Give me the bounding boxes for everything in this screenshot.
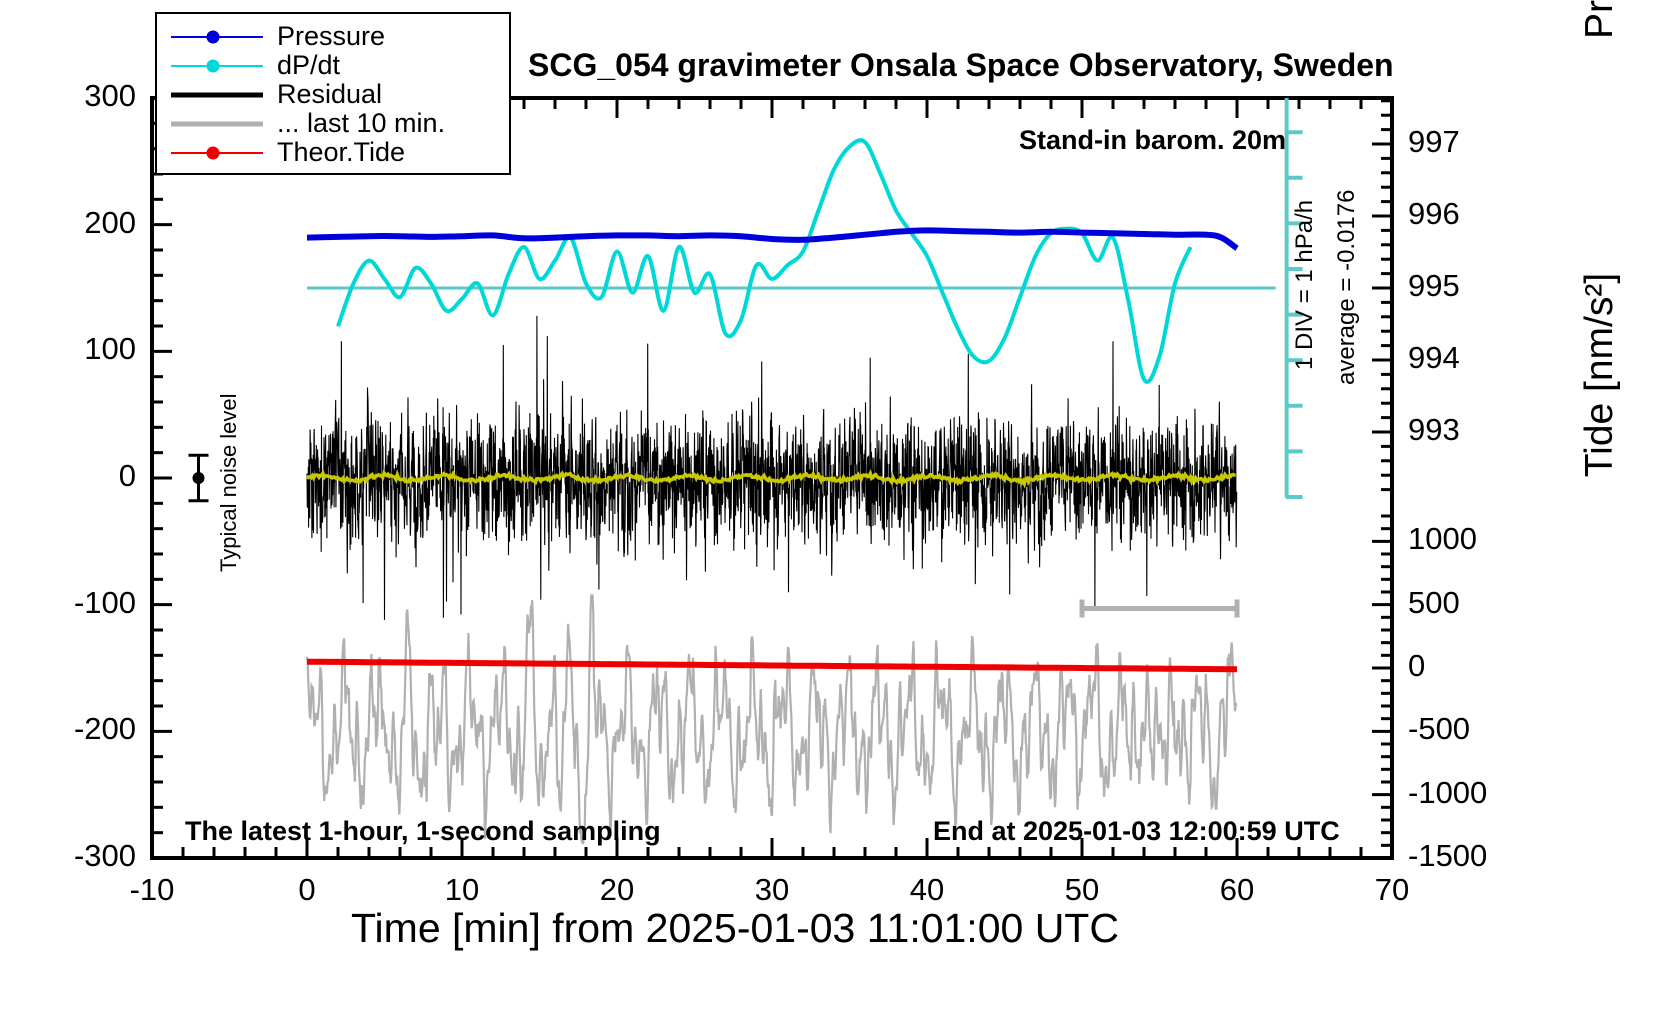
legend-item-dpdt[interactable]: dP/dt	[171, 51, 509, 80]
pressure-tick-label: 996	[1408, 196, 1518, 232]
tide-tick-label: -1500	[1408, 838, 1518, 874]
residual-series	[307, 316, 1237, 620]
legend-label-pressure: Pressure	[277, 21, 385, 52]
y-tick-label: -300	[26, 838, 136, 874]
x-tick-label: 50	[1022, 872, 1142, 908]
y-tick-label: -200	[26, 711, 136, 747]
annotation-noise-level: Typical noise level	[216, 393, 242, 572]
legend-item-theor-tide[interactable]: Theor.Tide	[171, 138, 509, 167]
legend-label-residual: Residual	[277, 79, 382, 110]
legend-item-pressure[interactable]: Pressure	[171, 22, 509, 51]
legend-label-theor-tide: Theor.Tide	[277, 137, 405, 168]
legend-label-last10: ... last 10 min.	[277, 108, 445, 139]
page-title: SCG_054 gravimeter Onsala Space Observat…	[528, 47, 1394, 84]
legend-swatch-residual	[171, 85, 263, 105]
annotation-standin-barom: Stand-in barom. 20m	[1019, 125, 1286, 156]
legend-item-residual[interactable]: Residual	[171, 80, 509, 109]
x-tick-label: -10	[92, 872, 212, 908]
last10-series	[307, 595, 1237, 844]
y-axis-right-bottom-label: Tide [nm/s²]	[1578, 220, 1622, 530]
x-tick-label: 10	[402, 872, 522, 908]
annotation-div-scale: 1 DIV = 1 hPa/h	[1291, 200, 1319, 370]
annotation-average: average = -0.0176	[1333, 190, 1361, 385]
chart-root: SCG_054 gravimeter Onsala Space Observat…	[0, 0, 1660, 1020]
legend-swatch-dpdt	[171, 56, 263, 76]
legend-swatch-last10	[171, 114, 263, 134]
legend: Pressure dP/dt Residual ... last 10 min.	[155, 12, 511, 175]
x-tick-label: 30	[712, 872, 832, 908]
y-tick-label: 0	[26, 458, 136, 494]
x-tick-label: 60	[1177, 872, 1297, 908]
y-axis-left-ticks	[152, 98, 172, 858]
legend-swatch-pressure	[171, 27, 263, 47]
x-tick-label: 0	[247, 872, 367, 908]
legend-item-last10[interactable]: ... last 10 min.	[171, 109, 509, 138]
y-tick-label: -100	[26, 585, 136, 621]
pressure-tick-label: 997	[1408, 124, 1518, 160]
dpdt-series	[338, 140, 1191, 382]
pressure-tick-label: 994	[1408, 340, 1518, 376]
tide-tick-label: 1000	[1408, 521, 1518, 557]
annotation-end-time: End at 2025-01-03 12:00:59 UTC	[933, 816, 1340, 847]
x-tick-label: 40	[867, 872, 987, 908]
annotation-sampling: The latest 1-hour, 1-second sampling	[185, 816, 661, 847]
legend-swatch-theor-tide	[171, 143, 263, 163]
y-tick-label: 300	[26, 78, 136, 114]
tide-tick-label: -500	[1408, 711, 1518, 747]
tide-tick-label: 0	[1408, 648, 1518, 684]
pressure-tick-label: 995	[1408, 268, 1518, 304]
y-tick-label: 100	[26, 331, 136, 367]
x-tick-label: 70	[1332, 872, 1452, 908]
tide-tick-label: 500	[1408, 585, 1518, 621]
pressure-series	[307, 230, 1237, 248]
noise-level-marker	[189, 455, 209, 501]
pressure-tick-label: 993	[1408, 412, 1518, 448]
y-axis-right-top-label: Pressure [hPa]	[1578, 0, 1622, 100]
y-axis-right-ticks	[1372, 101, 1392, 858]
tide-tick-label: -1000	[1408, 775, 1518, 811]
legend-label-dpdt: dP/dt	[277, 50, 340, 81]
x-tick-label: 20	[557, 872, 677, 908]
y-tick-label: 200	[26, 205, 136, 241]
x-axis-label: Time [min] from 2025-01-03 11:01:00 UTC	[0, 905, 1470, 952]
